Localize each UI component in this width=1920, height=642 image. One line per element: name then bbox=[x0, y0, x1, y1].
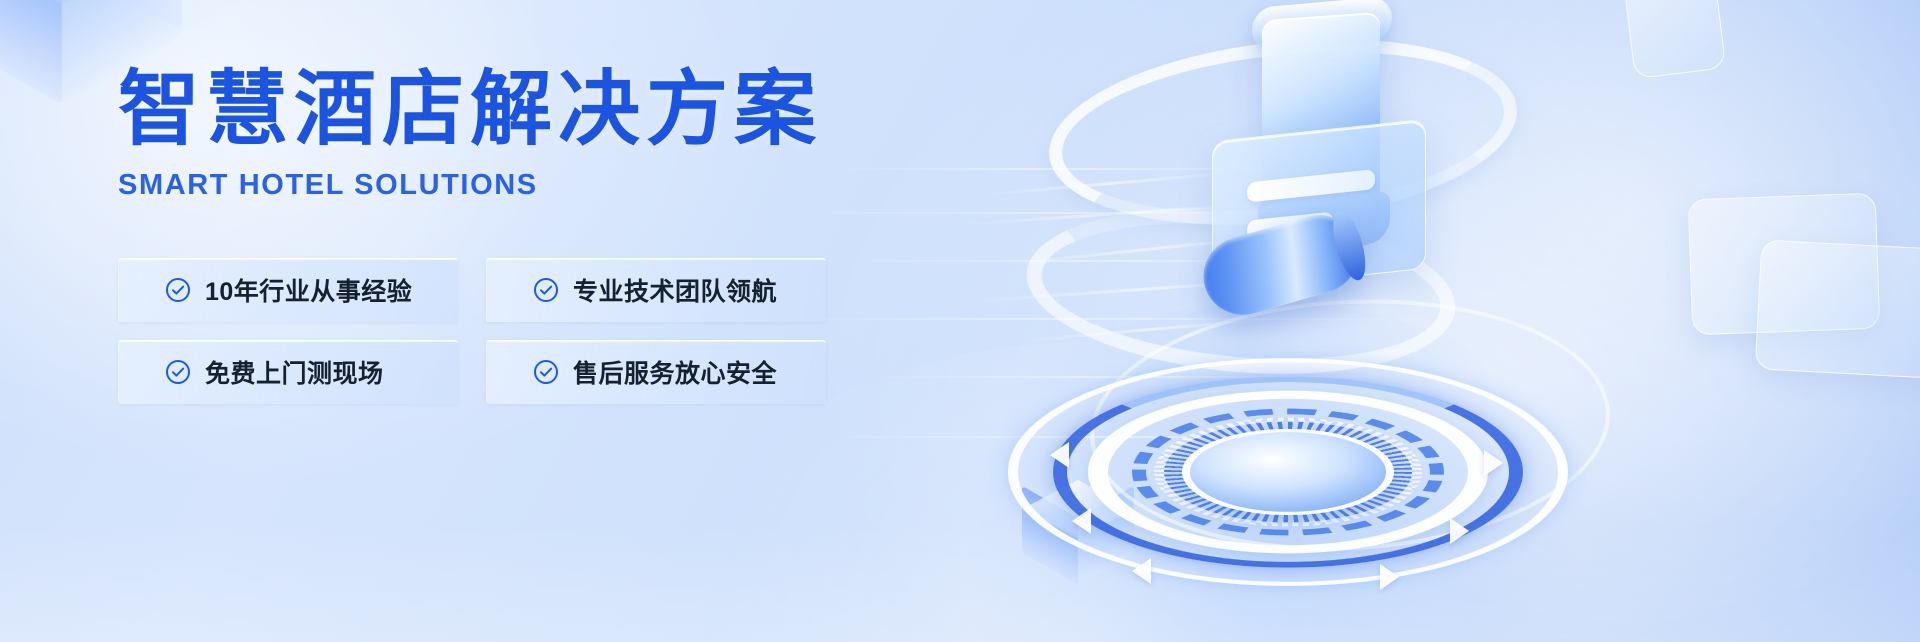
perspective-grid bbox=[780, 150, 1540, 480]
info-card-icon bbox=[1212, 119, 1426, 291]
page-title: 智慧酒店解决方案 bbox=[118, 66, 878, 155]
check-circle-icon bbox=[533, 359, 559, 385]
glass-ribbon-arc-low bbox=[1084, 287, 1616, 564]
arrow-left-3 bbox=[1132, 558, 1151, 584]
glass-panel-top bbox=[1622, 0, 1727, 79]
glass-panel-right-1 bbox=[1688, 193, 1881, 335]
hero-text-block: 智慧酒店解决方案 SMART HOTEL SOLUTIONS 10年行业从事经验 bbox=[118, 66, 878, 404]
arrow-left-1 bbox=[1050, 442, 1069, 468]
arrow-left-2 bbox=[1072, 508, 1091, 534]
check-circle-icon bbox=[165, 359, 191, 385]
cube-top-center-icon bbox=[108, 0, 258, 64]
feature-label: 免费上门测现场 bbox=[205, 354, 384, 390]
glass-ribbon-arc-mid bbox=[1020, 192, 1462, 391]
arrow-right-1 bbox=[1484, 450, 1503, 476]
ring-core bbox=[1182, 429, 1394, 515]
glass-ribbon-arc-top bbox=[1040, 18, 1526, 246]
ring-teeth bbox=[1154, 417, 1422, 526]
glow-bottom-right bbox=[920, 302, 1620, 642]
page-subtitle: SMART HOTEL SOLUTIONS bbox=[118, 169, 878, 202]
feature-item-2[interactable]: 专业技术团队领航 bbox=[486, 258, 826, 322]
blue-cylinder bbox=[1194, 206, 1367, 325]
hero-illustration bbox=[940, 0, 1920, 642]
arrow-right-2 bbox=[1450, 518, 1469, 544]
scroll-tail bbox=[1258, 191, 1390, 252]
hero-banner: 智慧酒店解决方案 SMART HOTEL SOLUTIONS 10年行业从事经验 bbox=[0, 0, 1920, 642]
feature-item-3[interactable]: 免费上门测现场 bbox=[118, 340, 458, 404]
card-line-1 bbox=[1247, 169, 1375, 202]
feature-label: 售后服务放心安全 bbox=[573, 354, 777, 390]
ring-dashed bbox=[1132, 409, 1444, 536]
feature-label: 专业技术团队领航 bbox=[573, 272, 777, 308]
feature-item-1[interactable]: 10年行业从事经验 bbox=[118, 258, 458, 322]
ring-blue bbox=[1053, 376, 1523, 567]
ring-outer bbox=[1008, 358, 1568, 586]
cube-bottom-center-icon bbox=[1022, 492, 1134, 604]
speed-streaks bbox=[960, 178, 1380, 378]
glass-panel-right-2 bbox=[1755, 239, 1920, 378]
check-circle-icon bbox=[533, 277, 559, 303]
card-line-2 bbox=[1247, 212, 1333, 241]
feature-item-4[interactable]: 售后服务放心安全 bbox=[486, 340, 826, 404]
arrow-right-3 bbox=[1380, 564, 1399, 590]
circular-tech-platform bbox=[998, 312, 1578, 632]
feature-list: 10年行业从事经验 专业技术团队领航 免费上 bbox=[118, 258, 878, 404]
check-circle-icon bbox=[165, 277, 191, 303]
glow-top-right bbox=[1180, 0, 1920, 620]
bottom-vignette bbox=[0, 522, 1920, 642]
floating-scroll-sheet bbox=[1262, 12, 1380, 234]
ring-white bbox=[1088, 391, 1488, 554]
scroll-curl bbox=[1252, 0, 1392, 52]
feature-label: 10年行业从事经验 bbox=[205, 272, 412, 308]
